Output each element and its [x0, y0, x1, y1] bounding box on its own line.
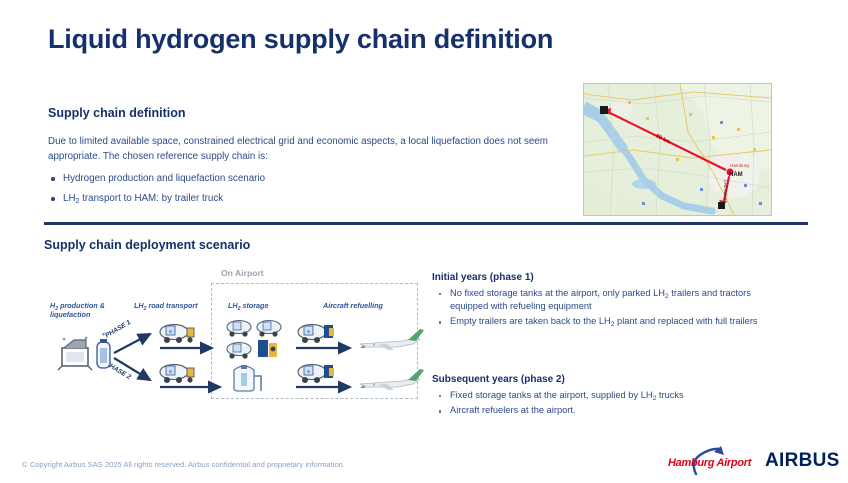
route-map: 80 km Hamburg HAM LH2 trailer: [583, 83, 772, 216]
deployment-scenario-heading: Supply chain deployment scenario: [44, 238, 250, 252]
svg-text:✳: ✳: [168, 370, 172, 376]
aircraft-icon-row2: [360, 369, 424, 390]
svg-text:✳: ✳: [101, 332, 105, 338]
bullet-sub: 2: [76, 198, 80, 205]
hamburg-airport-logo: Hamburg Airport: [668, 447, 754, 475]
map-route-label: LH2 trailer: [723, 180, 728, 200]
footer-logos: Hamburg Airport AIRBUS: [668, 447, 840, 475]
phase1-list: No fixed storage tanks at the airport, o…: [432, 287, 762, 329]
list-item: No fixed storage tanks at the airport, o…: [432, 287, 762, 313]
phase2-title: Subsequent years (phase 2): [432, 374, 762, 385]
bullet-text: LH: [63, 193, 76, 204]
copyright-notice: © Copyright Airbus SAS 2025 All rights r…: [22, 460, 345, 469]
map-graphic: [584, 84, 771, 215]
on-airport-label: On Airport: [221, 268, 264, 278]
definition-paragraph: Due to limited available space, constrai…: [48, 134, 568, 164]
refueller-truck-icon-row1: ✳: [298, 325, 334, 344]
svg-text:✳: ✳: [306, 370, 310, 376]
bullet-post: transport to HAM: by trailer truck: [79, 193, 223, 204]
supply-chain-definition-heading: Supply chain definition: [48, 106, 186, 120]
list-item: Empty trailers are taken back to the LH2…: [432, 315, 762, 328]
section-divider: [44, 222, 808, 225]
slide-root: Liquid hydrogen supply chain definition …: [0, 0, 848, 483]
svg-text:✳: ✳: [306, 330, 310, 336]
svg-text:✳: ✳: [168, 330, 172, 336]
fixed-storage-tank-icon: [234, 365, 261, 391]
page-title: Liquid hydrogen supply chain definition: [48, 24, 553, 55]
list-item: Aircraft refuelers at the airport.: [432, 404, 762, 417]
aircraft-icon-row1: [360, 329, 424, 350]
bullet-text: Hydrogen production and liquefaction sce…: [63, 173, 265, 184]
lh2-storage-cluster-icon: [227, 321, 281, 359]
supply-chain-diagram: ✳ ✳: [40, 290, 430, 405]
airbus-logo-text: AIRBUS: [765, 450, 840, 472]
supply-chain-definition-body: Due to limited available space, constrai…: [48, 134, 568, 212]
refueling-unit-icon: [258, 340, 277, 357]
list-item: Fixed storage tanks at the airport, supp…: [432, 389, 762, 402]
phase2-text-block: Subsequent years (phase 2) Fixed storage…: [432, 374, 762, 419]
list-item: LH2 transport to HAM: by trailer truck: [48, 192, 568, 207]
hamburg-airport-logo-text: Hamburg Airport: [668, 457, 751, 469]
map-airport-code: HAM: [729, 172, 743, 178]
phase1-text-block: Initial years (phase 1) No fixed storage…: [432, 272, 762, 331]
map-city-label: Hamburg: [730, 163, 749, 168]
definition-bullet-list: Hydrogen production and liquefaction sce…: [48, 172, 568, 206]
phase2-list: Fixed storage tanks at the airport, supp…: [432, 389, 762, 417]
phase1-title: Initial years (phase 1): [432, 272, 762, 283]
lh2-tank-icon: ✳: [97, 332, 110, 368]
refueller-truck-icon-row2: ✳: [298, 365, 334, 384]
production-plant-icon: [58, 337, 92, 370]
list-item: Hydrogen production and liquefaction sce…: [48, 172, 568, 187]
trailer-truck-icon-row2: ✳: [160, 365, 194, 384]
trailer-truck-icon-row1: ✳: [160, 325, 194, 344]
